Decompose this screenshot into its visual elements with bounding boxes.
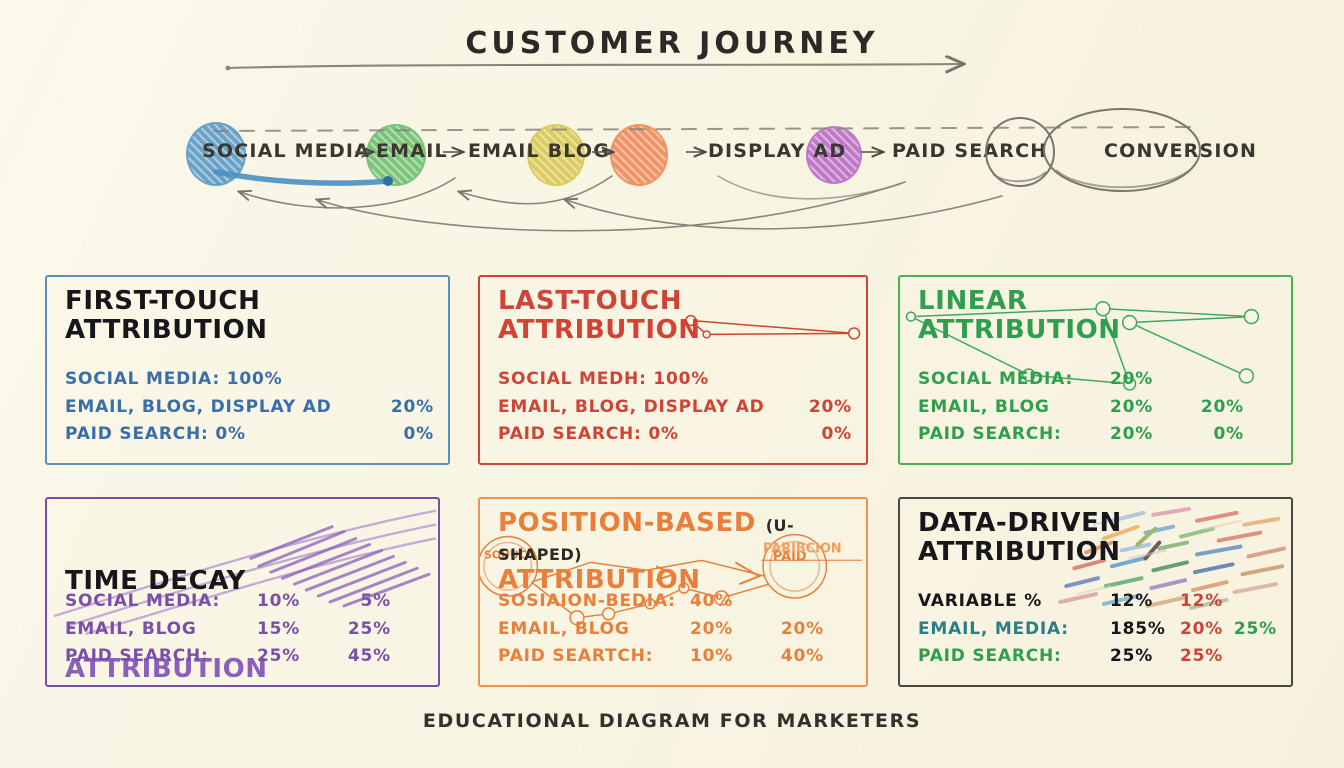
card-title-main: POSITION-BASED <box>498 508 756 538</box>
row-label: PAID SEARCH: 0% <box>65 421 246 449</box>
row-label: SOCIAL MEDIA: <box>918 366 1110 394</box>
card-title-position-based: POSITION-BASED (U-SHAPED) ATTRIBUTION <box>498 509 866 595</box>
journey-arrow-icon <box>226 64 962 70</box>
row-label: EMAIL, BLOG <box>498 616 690 644</box>
row-value-2: 12% <box>1169 588 1223 616</box>
row-value-1: 12% <box>1110 588 1169 616</box>
table-row: SOSIAION-BEDIA: 40% <box>498 588 852 616</box>
row-value-1: 40% <box>690 588 760 616</box>
row-value-2: 20% <box>1169 616 1223 644</box>
table-row: VARIABLE % 12% 12% <box>918 588 1277 616</box>
row-value-1: 185% <box>1110 616 1169 644</box>
card-position-based[interactable]: POSITION-BASED (U-SHAPED) ATTRIBUTION <box>478 497 868 687</box>
table-row: PAID SEARCH: 25% 25% <box>918 643 1277 671</box>
row-label: PAID SEARCH: <box>65 643 257 671</box>
row-value-2: 20% <box>760 616 824 644</box>
table-row: PAID SEARCH: 0% 0% <box>65 421 434 449</box>
row-label: PAID SEARCH: <box>918 643 1110 671</box>
table-row: PAID SEARCH: 25% 45% <box>65 643 424 671</box>
table-row: PAID SEARCH: 20% 0% <box>918 421 1277 449</box>
row-label: EMAIL, MEDIA: <box>918 616 1110 644</box>
card-title-data-driven: DATA-DRIVEN ATTRIBUTION <box>918 509 1122 567</box>
row-value-1: 10% <box>257 588 327 616</box>
card-rows-time-decay: SOCIAL MEDIA: 10% 5% EMAIL, BLOG 15% 25%… <box>65 588 424 671</box>
conversion-ellipse <box>1044 109 1200 191</box>
row-value-2: 45% <box>327 643 391 671</box>
row-value-1: 15% <box>257 616 327 644</box>
row-label: PAID SEARCH: 0% <box>498 421 679 449</box>
social-email-link <box>216 172 388 183</box>
row-label: PAID SEARTCH: <box>498 643 690 671</box>
table-row: SOCIAL MEDIA: 10% 5% <box>65 588 424 616</box>
table-row: EMAIL, MEDIA: 185% 20% 25% <box>918 616 1277 644</box>
row-value-1: 20% <box>690 616 760 644</box>
card-data-driven[interactable]: DATA-DRIVEN ATTRIBUTION <box>898 497 1293 687</box>
row-value-1: 10% <box>690 643 760 671</box>
card-title-last-touch: LAST-TOUCH ATTRIBUTION <box>498 287 701 345</box>
row-value-1: 20% <box>1110 421 1180 449</box>
row-value-1: 20% <box>1110 394 1180 422</box>
row-value-2: 5% <box>327 588 391 616</box>
row-value-1: 25% <box>1110 643 1169 671</box>
row-value-1: 0% <box>822 421 852 449</box>
table-row: EMAIL, BLOG, DISPLAY AD 20% <box>65 394 434 422</box>
row-value-1: 20% <box>1110 366 1180 394</box>
table-row: SOCIAL MEDIA: 100% <box>65 366 434 394</box>
row-label: SOCIAL MEDH: 100% <box>498 366 709 394</box>
table-row: EMAIL, BLOG 20% 20% <box>918 394 1277 422</box>
row-label: SOCIAL MEDIA: <box>65 588 257 616</box>
table-row: EMAIL, BLOG 20% 20% <box>498 616 852 644</box>
card-rows-position-based: SOSIAION-BEDIA: 40% EMAIL, BLOG 20% 20% … <box>498 588 852 671</box>
row-label: PAID SEARCH: <box>918 421 1110 449</box>
row-value-2: 40% <box>760 643 824 671</box>
table-row: SOCIAL MEDIA: 20% <box>918 366 1277 394</box>
row-label: SOSIAION-BEDIA: <box>498 588 690 616</box>
card-rows-linear: SOCIAL MEDIA: 20% EMAIL, BLOG 20% 20% PA… <box>918 366 1277 449</box>
row-value-2: 20% <box>1180 394 1244 422</box>
row-label: EMAIL, BLOG, DISPLAY AD <box>65 394 332 422</box>
table-row: PAID SEARCH: 0% 0% <box>498 421 852 449</box>
row-label: VARIABLE % <box>918 588 1110 616</box>
row-value-2: 0% <box>1180 421 1244 449</box>
table-row: EMAIL, BLOG 15% 25% <box>65 616 424 644</box>
card-time-decay[interactable]: TIME DECAY ATTRIBUTION SOCIAL MEDIA: 10%… <box>45 497 440 687</box>
row-value-1: 20% <box>391 394 434 422</box>
card-title-linear: LINEAR ATTRIBUTION <box>918 287 1121 345</box>
table-row: SOCIAL MEDH: 100% <box>498 366 852 394</box>
row-value-1: 20% <box>809 394 852 422</box>
row-value-2: 25% <box>327 616 391 644</box>
row-value-3: 25% <box>1223 616 1277 644</box>
table-row: PAID SEARTCH: 10% 40% <box>498 643 852 671</box>
row-label: EMAIL, BLOG, DISPLAY AD <box>498 394 765 422</box>
row-value-1: 0% <box>404 421 434 449</box>
row-label: EMAIL, BLOG <box>918 394 1110 422</box>
diagram-canvas: CUSTOMER JOURNEY SOCIAL MEDIA EMAIL EMAI… <box>0 0 1344 768</box>
row-label: EMAIL, BLOG <box>65 616 257 644</box>
card-last-touch[interactable]: LAST-TOUCH ATTRIBUTION SOCIAL MEDH: 100%… <box>478 275 868 465</box>
card-linear[interactable]: LINEAR ATTRIBUTION SOCIAL MEDIA: 20% <box>898 275 1293 465</box>
row-value-2: 25% <box>1169 643 1223 671</box>
row-label: SOCIAL MEDIA: 100% <box>65 366 282 394</box>
card-rows-last-touch: SOCIAL MEDH: 100% EMAIL, BLOG, DISPLAY A… <box>498 366 852 449</box>
card-title-first-touch: FIRST-TOUCH ATTRIBUTION <box>65 287 268 345</box>
card-rows-first-touch: SOCIAL MEDIA: 100% EMAIL, BLOG, DISPLAY … <box>65 366 434 449</box>
row-value-1: 25% <box>257 643 327 671</box>
card-rows-data-driven: VARIABLE % 12% 12% EMAIL, MEDIA: 185% 20… <box>918 588 1277 671</box>
table-row: EMAIL, BLOG, DISPLAY AD 20% <box>498 394 852 422</box>
